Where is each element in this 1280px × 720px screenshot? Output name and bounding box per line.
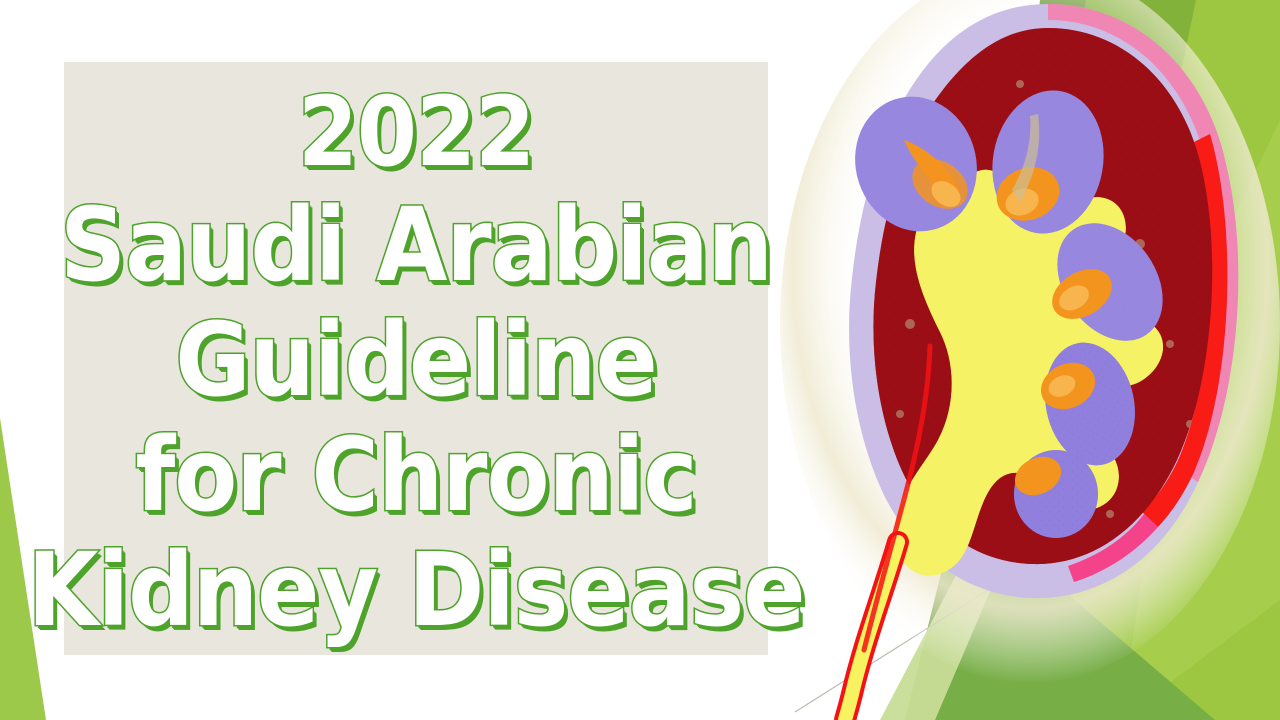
- slide-canvas: 2022 Saudi Arabian Guideline for Chronic…: [0, 0, 1280, 720]
- title-line-for-chronic: for Chronic: [135, 418, 696, 533]
- title-line-guideline: Guideline: [175, 303, 656, 418]
- title-line-kidney-disease: Kidney Disease: [28, 533, 805, 648]
- title-line-year: 2022: [298, 76, 534, 188]
- title-block: 2022 Saudi Arabian Guideline for Chronic…: [64, 62, 768, 655]
- kidney-svg: [780, 0, 1280, 720]
- title-line-country: Saudi Arabian: [60, 188, 772, 303]
- kidney-illustration: [780, 0, 1280, 720]
